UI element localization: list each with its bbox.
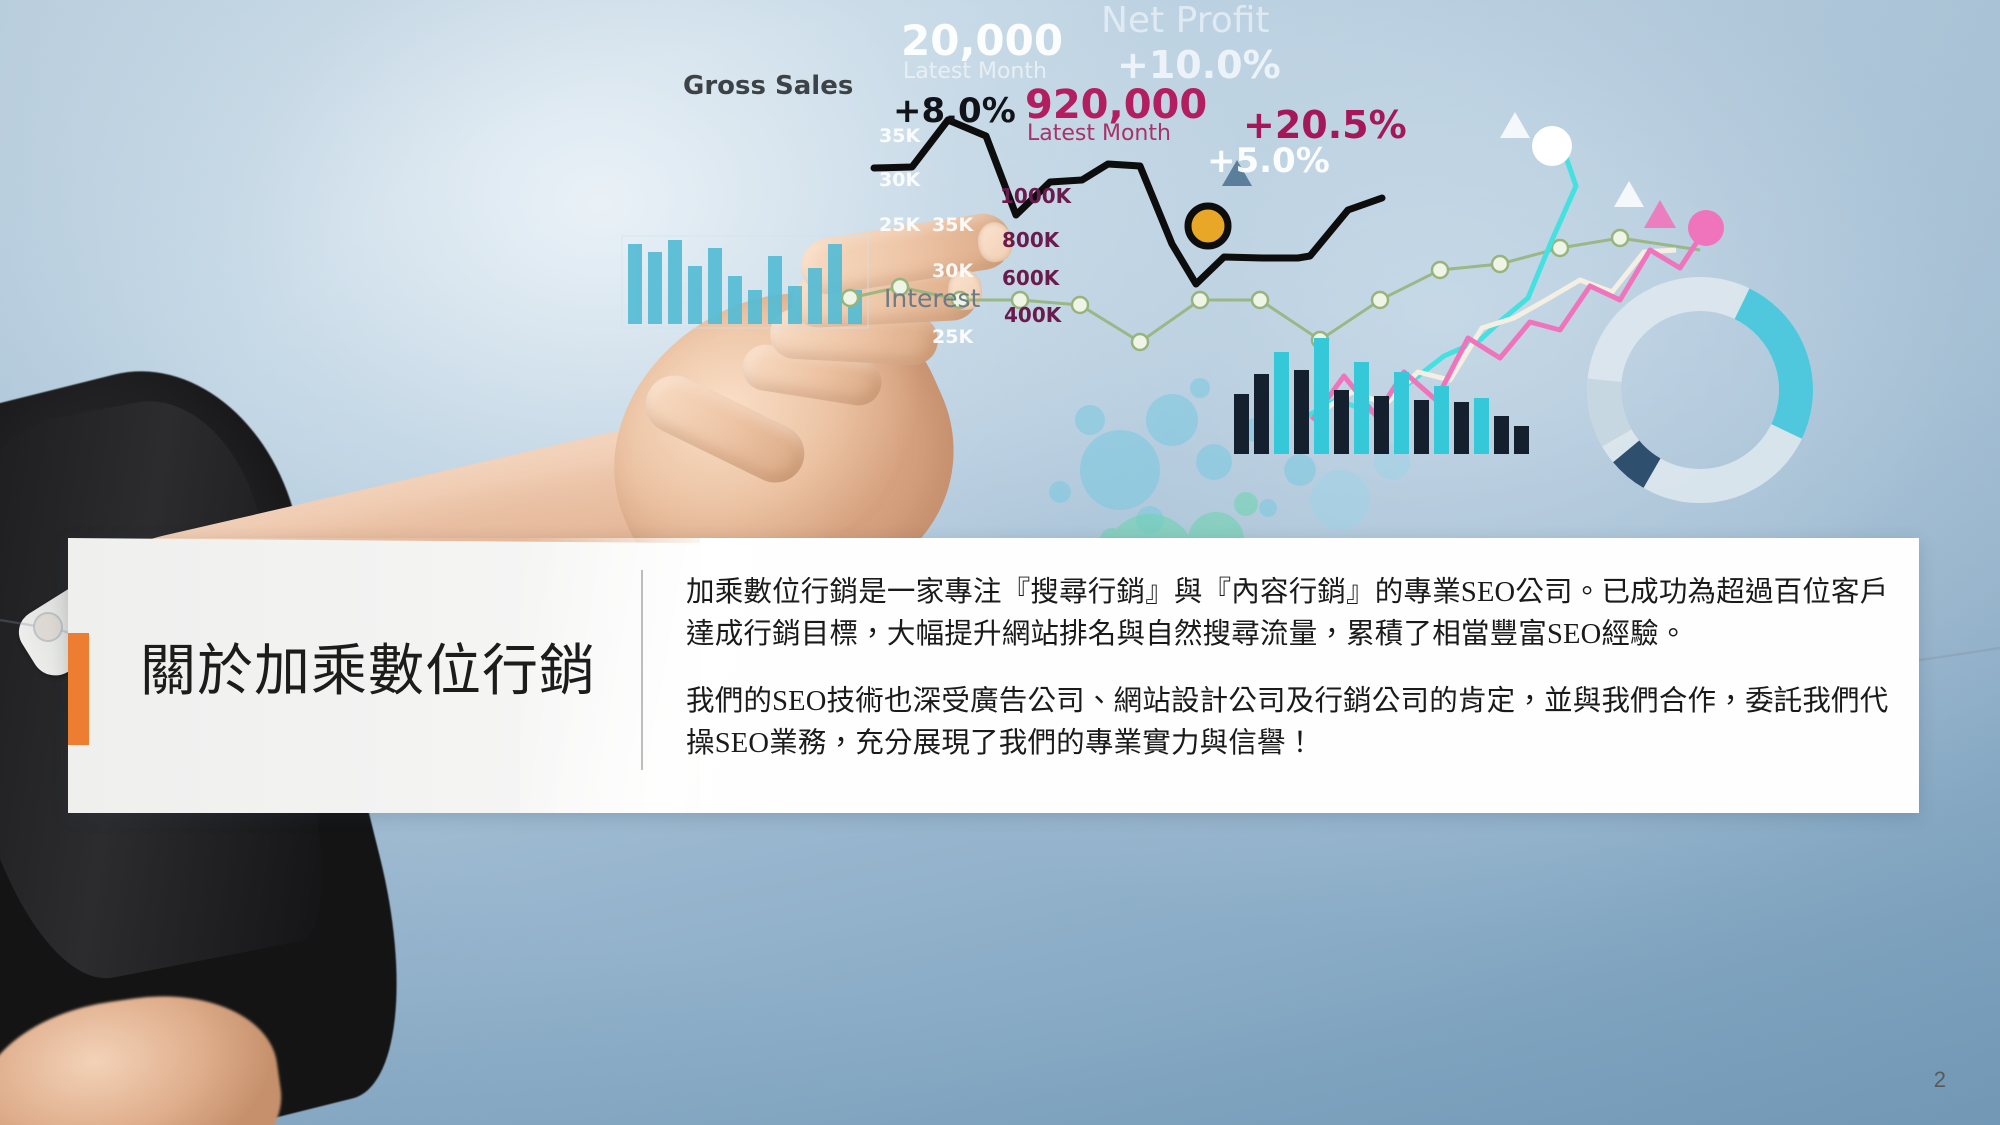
page-number: 2 bbox=[1934, 1067, 1946, 1093]
title-accent-bar bbox=[68, 633, 89, 745]
body-paragraph-2: 我們的SEO技術也深受廣告公司、網站設計公司及行銷公司的肯定，並與我們合作，委託… bbox=[686, 681, 1901, 764]
slide-root: Gross Sales 20,000 Latest Month +8.0% Ne… bbox=[0, 0, 2000, 1125]
body-text-block: 加乘數位行銷是一家專注『搜尋行銷』與『內容行銷』的專業SEO公司。已成功為超過百… bbox=[686, 572, 1901, 764]
body-divider bbox=[641, 570, 643, 770]
body-paragraph-1: 加乘數位行銷是一家專注『搜尋行銷』與『內容行銷』的專業SEO公司。已成功為超過百… bbox=[686, 572, 1901, 655]
page-title: 關於加乘數位行銷 bbox=[140, 637, 640, 707]
